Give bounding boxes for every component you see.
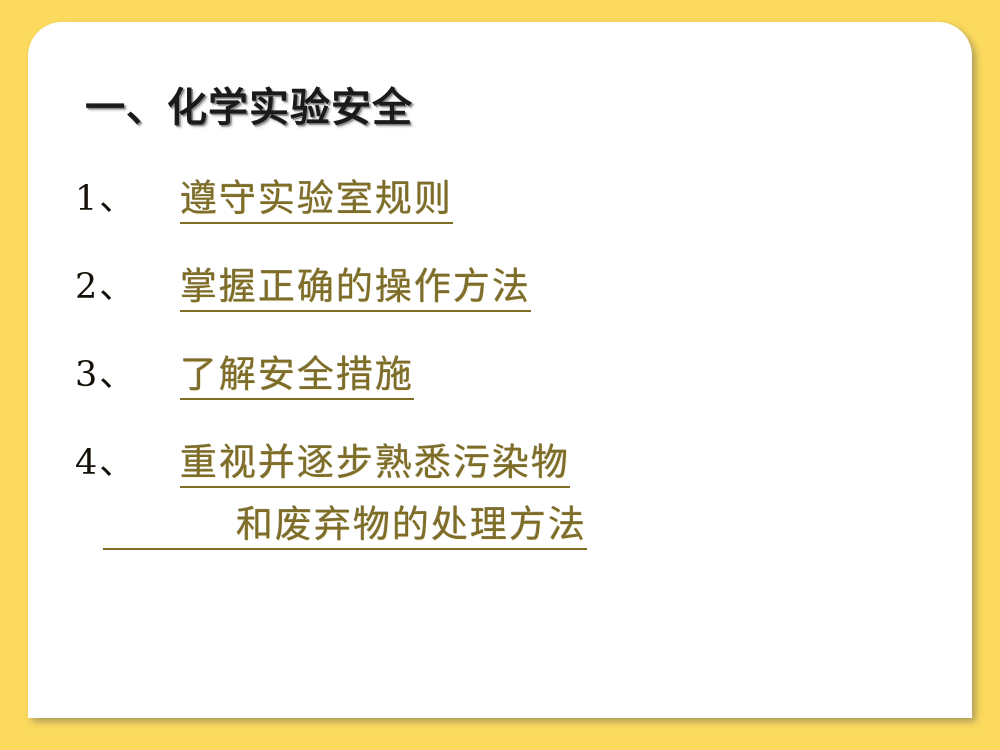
list-item-text: 掌握正确的操作方法 [180, 265, 531, 312]
list-item-text-wrapper: 了解安全措施 [180, 348, 414, 402]
list-item-text: 重视并逐步熟悉污染物 [180, 441, 570, 488]
slide-content-panel: 一、化学实验安全 1、 遵守实验室规则 2、 掌握正确的操作方法 3、 了解安全… [28, 22, 972, 718]
list-item-number: 4、 [75, 436, 136, 490]
list-item-text-wrapper: 重视并逐步熟悉污染物 [180, 436, 570, 490]
list-item-text-wrapper: 遵守实验室规则 [180, 172, 453, 226]
slide-title: 一、化学实验安全 [85, 84, 413, 132]
list-item-text-wrapper: 掌握正确的操作方法 [180, 260, 531, 314]
list-item: 3、 了解安全措施 [75, 348, 955, 436]
list-item-number: 2、 [75, 260, 136, 314]
list-item-text: 遵守实验室规则 [180, 177, 453, 224]
list-item-text: 了解安全措施 [180, 353, 414, 400]
list-item-text-line2: 和废弃物的处理方法 [236, 503, 587, 546]
list-item: 1、 遵守实验室规则 [75, 172, 955, 260]
slide-frame: 一、化学实验安全 1、 遵守实验室规则 2、 掌握正确的操作方法 3、 了解安全… [0, 0, 1000, 750]
slide-content: 一、化学实验安全 1、 遵守实验室规则 2、 掌握正确的操作方法 3、 了解安全… [28, 22, 972, 718]
list-item: 4、 重视并逐步熟悉污染物 和废弃物的处理方法 [75, 436, 955, 576]
list-item: 2、 掌握正确的操作方法 [75, 260, 955, 348]
list-item-number: 3、 [75, 348, 136, 402]
list-item-number: 1、 [75, 172, 136, 226]
list-item-text-line2-wrapper: 和废弃物的处理方法 [103, 498, 587, 552]
numbered-list: 1、 遵守实验室规则 2、 掌握正确的操作方法 3、 了解安全措施 4、 重视并… [75, 172, 955, 576]
